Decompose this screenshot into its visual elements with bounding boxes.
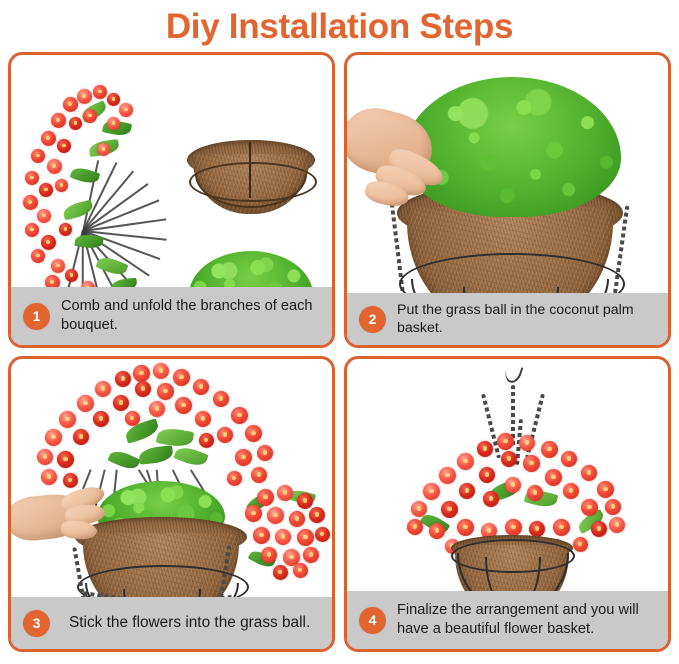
step-panel-2: 2 Put the grass ball in the coconut palm… [344, 52, 671, 348]
basket-hook-icon [503, 363, 524, 385]
red-bouquet-crescent [19, 83, 169, 313]
step-2-caption-text: Put the grass ball in the coconut palm b… [397, 301, 658, 337]
step-panel-3: 3 Stick the flowers into the grass ball. [8, 356, 335, 652]
coconut-coir-basket-liner [187, 140, 315, 218]
step-panel-4: 4 Finalize the arrangement and you will … [344, 356, 671, 652]
step-3-caption-text: Stick the flowers into the grass ball. [61, 613, 310, 633]
page-header: Diy Installation Steps [0, 0, 679, 52]
step-panel-1: 1 Comb and unfold the branches of each b… [8, 52, 335, 348]
flower-stems [139, 469, 199, 471]
step-1-badge: 1 [23, 303, 50, 330]
step-3-caption: 3 Stick the flowers into the grass ball. [11, 597, 332, 649]
page-title: Diy Installation Steps [166, 9, 513, 44]
step-4-caption-text: Finalize the arrangement and you will ha… [397, 601, 658, 638]
step-2-caption: 2 Put the grass ball in the coconut palm… [347, 293, 668, 345]
steps-grid: 1 Comb and unfold the branches of each b… [0, 52, 679, 664]
step-1-caption: 1 Comb and unfold the branches of each b… [11, 287, 332, 345]
step-4-badge: 4 [359, 607, 386, 634]
step-4-caption: 4 Finalize the arrangement and you will … [347, 591, 668, 649]
step-3-badge: 3 [23, 610, 50, 637]
step-1-caption-text: Comb and unfold the branches of each bou… [61, 297, 322, 334]
hand [347, 111, 463, 211]
loose-red-flower-bunch [239, 483, 332, 579]
step-2-badge: 2 [359, 306, 386, 333]
hand [11, 485, 125, 555]
